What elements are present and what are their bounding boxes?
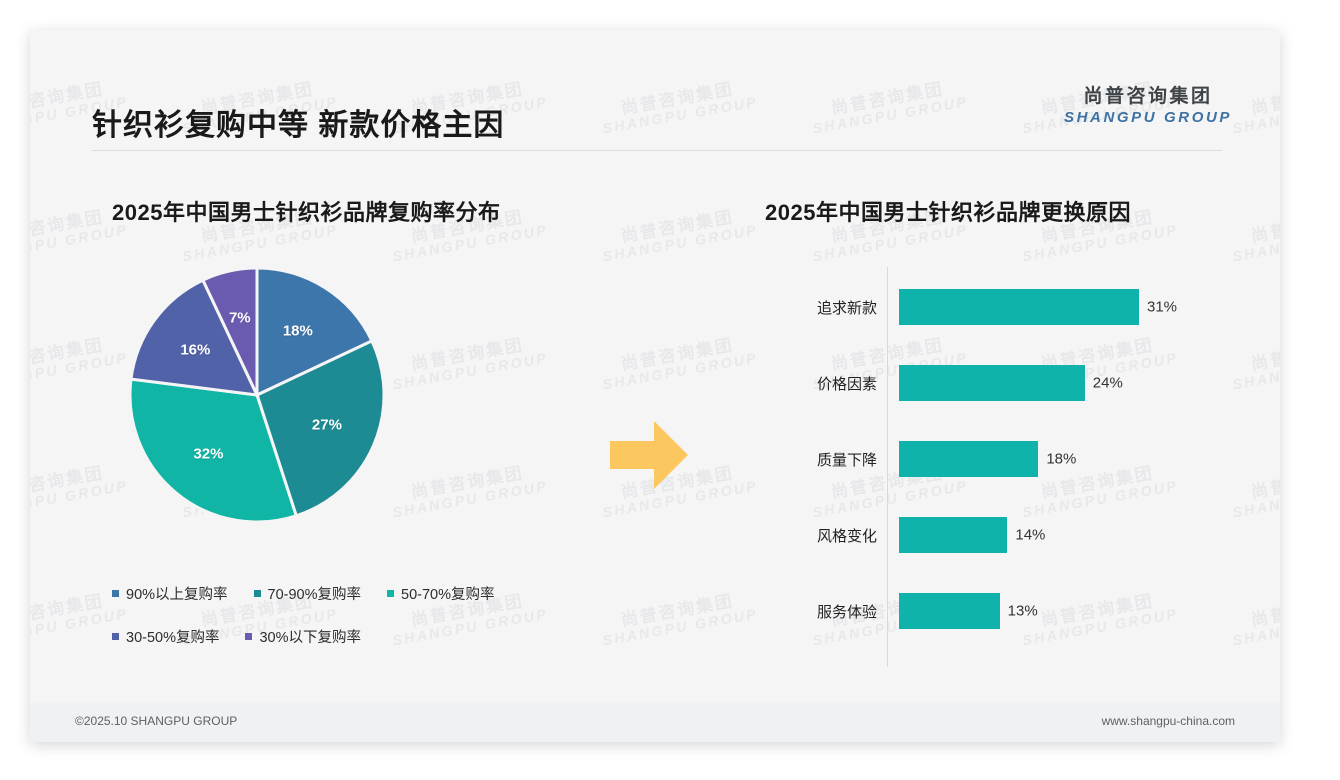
watermark: 尚普咨询集团SHANGPU GROUP: [1228, 333, 1280, 393]
legend-item[interactable]: 90%以上复购率: [112, 583, 228, 604]
bar-row: 服务体验13%: [765, 593, 1235, 629]
pie-slice-label: 32%: [193, 445, 223, 462]
bar-category-label: 服务体验: [765, 601, 899, 622]
bar-fill[interactable]: [899, 289, 1139, 325]
page-title: 针织衫复购中等 新款价格主因: [92, 100, 504, 144]
bar-track: 31%: [899, 289, 1235, 325]
bar-track: 14%: [899, 517, 1235, 553]
bar-chart-panel: 2025年中国男士针织衫品牌更换原因 追求新款31%价格因素24%质量下降18%…: [765, 195, 1235, 667]
legend-swatch: [254, 590, 261, 597]
footer-website: www.shangpu-china.com: [1102, 714, 1235, 728]
bar-category-label: 风格变化: [765, 525, 899, 546]
bar-value-label: 18%: [1038, 451, 1076, 468]
legend-label: 30-50%复购率: [126, 626, 219, 647]
bar-category-label: 质量下降: [765, 449, 899, 470]
bar-value-label: 13%: [1000, 603, 1038, 620]
header-divider: [92, 150, 1222, 151]
legend-swatch: [245, 633, 252, 640]
bar-fill[interactable]: [899, 517, 1007, 553]
slide: 尚普咨询集团SHANGPU GROUP尚普咨询集团SHANGPU GROUP尚普…: [30, 30, 1280, 742]
bar-track: 24%: [899, 365, 1235, 401]
watermark: 尚普咨询集团SHANGPU GROUP: [1228, 461, 1280, 521]
legend-item[interactable]: 30%以下复购率: [245, 626, 361, 647]
slide-header: 针织衫复购中等 新款价格主因 尚普咨询集团 SHANGPU GROUP: [30, 30, 1280, 118]
right-arrow-icon: [608, 417, 690, 498]
legend-item[interactable]: 70-90%复购率: [254, 583, 361, 604]
logo-chinese: 尚普咨询集团: [1064, 86, 1232, 109]
bar-row: 风格变化14%: [765, 517, 1235, 553]
brand-logo: 尚普咨询集团 SHANGPU GROUP: [1064, 86, 1232, 128]
pie-chart: 18%27%32%16%7%: [112, 247, 632, 577]
bar-fill[interactable]: [899, 441, 1038, 477]
legend-item[interactable]: 30-50%复购率: [112, 626, 219, 647]
pie-slice-label: 27%: [312, 417, 342, 434]
bar-category-label: 追求新款: [765, 297, 899, 318]
bar-row: 价格因素24%: [765, 365, 1235, 401]
legend-label: 50-70%复购率: [401, 583, 494, 604]
bar-fill[interactable]: [899, 593, 1000, 629]
legend-swatch: [387, 590, 394, 597]
pie-legend: 90%以上复购率70-90%复购率50-70%复购率30-50%复购率30%以下…: [112, 583, 582, 647]
pie-chart-title: 2025年中国男士针织衫品牌复购率分布: [112, 195, 632, 227]
bar-chart: 追求新款31%价格因素24%质量下降18%风格变化14%服务体验13%: [765, 267, 1235, 667]
legend-label: 30%以下复购率: [259, 626, 361, 647]
slide-footer: ©2025.10 SHANGPU GROUP www.shangpu-china…: [30, 702, 1280, 742]
legend-label: 70-90%复购率: [268, 583, 361, 604]
bar-value-label: 24%: [1085, 375, 1123, 392]
bar-value-label: 14%: [1007, 527, 1045, 544]
bar-row: 追求新款31%: [765, 289, 1235, 325]
legend-row: 90%以上复购率70-90%复购率50-70%复购率: [112, 583, 582, 604]
legend-swatch: [112, 633, 119, 640]
legend-label: 90%以上复购率: [126, 583, 228, 604]
bar-chart-title: 2025年中国男士针织衫品牌更换原因: [765, 195, 1235, 227]
legend-item[interactable]: 50-70%复购率: [387, 583, 494, 604]
footer-copyright: ©2025.10 SHANGPU GROUP: [75, 714, 237, 728]
legend-row: 30-50%复购率30%以下复购率: [112, 626, 582, 647]
pie-slice-label: 16%: [180, 342, 210, 359]
bar-track: 18%: [899, 441, 1235, 477]
legend-swatch: [112, 590, 119, 597]
pie-slice-label: 18%: [283, 322, 313, 339]
bar-row: 质量下降18%: [765, 441, 1235, 477]
pie-slice-label: 7%: [229, 310, 251, 327]
bar-value-label: 31%: [1139, 299, 1177, 316]
logo-english: SHANGPU GROUP: [1064, 109, 1232, 128]
watermark: 尚普咨询集团SHANGPU GROUP: [1228, 589, 1280, 649]
bar-fill[interactable]: [899, 365, 1085, 401]
watermark: 尚普咨询集团SHANGPU GROUP: [1228, 205, 1280, 265]
bar-track: 13%: [899, 593, 1235, 629]
bar-category-label: 价格因素: [765, 373, 899, 394]
pie-chart-panel: 2025年中国男士针织衫品牌复购率分布 18%27%32%16%7% 90%以上…: [112, 195, 632, 669]
pie-chart-svg: [122, 247, 392, 537]
